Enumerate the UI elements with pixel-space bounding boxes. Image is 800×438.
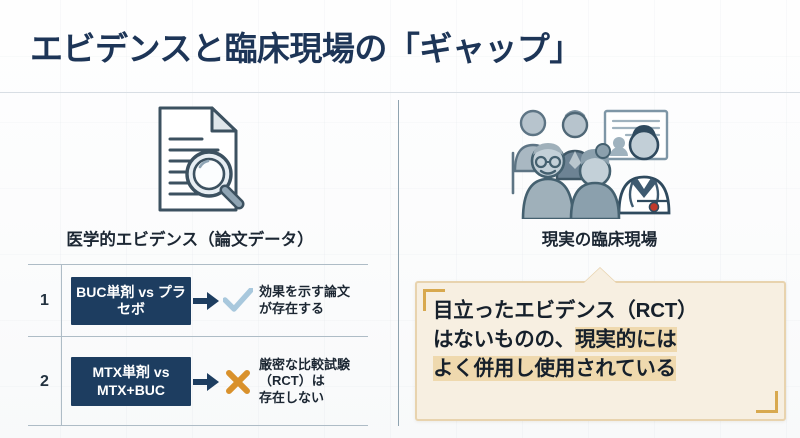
callout-line-1: 目立ったエビデンス（RCT） [433, 296, 774, 325]
right-arrow-icon [191, 373, 221, 391]
result-text: 効果を示す論文 が存在する [255, 284, 368, 317]
evidence-panel-heading: 医学的エビデンス（論文データ） [0, 226, 380, 250]
page-title: エビデンスと臨床現場の「ギャップ」 [30, 22, 582, 70]
table-row: 1 BUC単剤 vs プラセボ 効果を示す論文 が存在する [28, 267, 368, 335]
comparison-box: BUC単剤 vs プラセボ [71, 277, 191, 325]
cross-icon [221, 369, 255, 395]
title-divider [0, 92, 800, 93]
document-magnifier-icon [152, 103, 248, 220]
clinical-panel-heading: 現実の臨床現場 [399, 226, 800, 250]
callout-line-3-highlight: よく併用し使用されている [433, 356, 676, 381]
result-text: 厳密な比較試験 （RCT）は 存在しない [255, 357, 368, 407]
corner-bracket-bottom-right [756, 391, 778, 413]
right-arrow-icon [191, 292, 221, 310]
patients-and-doctor-icon [491, 101, 687, 224]
table-rule-bottom [28, 425, 368, 426]
callout-line-3: よく併用し使用されている [433, 354, 774, 383]
callout-line-2-plain: はないものの、 [433, 328, 575, 351]
check-icon [221, 288, 255, 314]
callout-line-2: はないものの、現実的には [433, 325, 774, 354]
evidence-panel: 医学的エビデンス（論文データ） 1 BUC単剤 vs プラセボ 効果を示す論文 … [0, 95, 398, 438]
slide-root: エビデンスと臨床現場の「ギャップ」 [0, 0, 800, 438]
callout-text: 目立ったエビデンス（RCT） はないものの、現実的には よく併用し使用されている [433, 296, 774, 383]
callout-line-2-highlight: 現実的には [575, 327, 677, 352]
callout-box: 目立ったエビデンス（RCT） はないものの、現実的には よく併用し使用されている [415, 281, 786, 421]
table-rule-middle [28, 336, 368, 337]
row-number: 2 [28, 373, 61, 391]
callout-pointer [584, 268, 616, 283]
table-row: 2 MTX単剤 vs MTX+BUC 厳密な比較試験 （RCT）は 存在しない [28, 339, 368, 424]
comparison-box: MTX単剤 vs MTX+BUC [71, 357, 191, 405]
table-rule-top [28, 264, 368, 265]
clinical-reality-panel: 現実の臨床現場 目立ったエビデンス（RCT） はないものの、現実的には よく併用… [399, 95, 800, 438]
row-number: 1 [28, 292, 61, 310]
